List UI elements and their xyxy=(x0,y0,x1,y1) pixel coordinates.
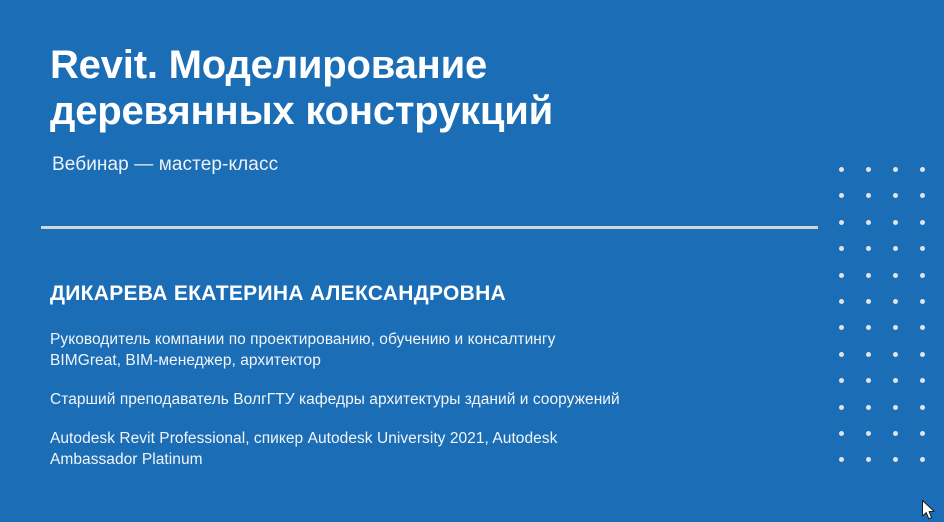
grid-dot xyxy=(839,299,844,304)
grid-dot xyxy=(839,167,844,172)
grid-dot xyxy=(920,246,925,251)
page-title: Revit. Моделирование деревянных конструк… xyxy=(50,42,790,134)
grid-dot xyxy=(893,378,898,383)
grid-dot xyxy=(920,378,925,383)
speaker-name: ДИКАРЕВА ЕКАТЕРИНА АЛЕКСАНДРОВНА xyxy=(50,281,810,307)
grid-dot xyxy=(920,273,925,278)
grid-dot xyxy=(893,457,898,462)
grid-dot xyxy=(839,352,844,357)
grid-dot xyxy=(893,299,898,304)
grid-dot xyxy=(866,246,871,251)
grid-dot xyxy=(920,352,925,357)
speaker-block: ДИКАРЕВА ЕКАТЕРИНА АЛЕКСАНДРОВНА Руковод… xyxy=(50,281,810,470)
mouse-pointer-icon xyxy=(922,500,936,521)
grid-dot xyxy=(866,299,871,304)
grid-dot xyxy=(839,457,844,462)
grid-dot xyxy=(893,246,898,251)
grid-dot xyxy=(866,457,871,462)
grid-dot xyxy=(866,405,871,410)
grid-dot xyxy=(866,378,871,383)
dot-grid-decoration xyxy=(839,167,935,467)
horizontal-divider xyxy=(41,226,818,229)
grid-dot xyxy=(839,246,844,251)
speaker-credential-line: Руководитель компании по проектированию,… xyxy=(50,307,810,371)
grid-dot xyxy=(920,431,925,436)
grid-dot xyxy=(920,193,925,198)
grid-dot xyxy=(920,405,925,410)
grid-dot xyxy=(893,193,898,198)
grid-dot xyxy=(839,405,844,410)
grid-dot xyxy=(839,273,844,278)
grid-dot xyxy=(866,167,871,172)
grid-dot xyxy=(893,431,898,436)
grid-dot xyxy=(839,325,844,330)
grid-dot xyxy=(866,431,871,436)
grid-dot xyxy=(866,273,871,278)
grid-dot xyxy=(893,352,898,357)
grid-dot xyxy=(893,325,898,330)
grid-dot xyxy=(893,220,898,225)
grid-dot xyxy=(866,352,871,357)
grid-dot xyxy=(866,220,871,225)
title-block: Revit. Моделирование деревянных конструк… xyxy=(50,42,790,177)
grid-dot xyxy=(866,193,871,198)
grid-dot xyxy=(839,378,844,383)
grid-dot xyxy=(866,325,871,330)
speaker-credential-line: Autodesk Revit Professional, спикер Auto… xyxy=(50,410,810,470)
grid-dot xyxy=(893,273,898,278)
grid-dot xyxy=(920,220,925,225)
grid-dot xyxy=(920,299,925,304)
speaker-credential-line: Старший преподаватель ВолгГТУ кафедры ар… xyxy=(50,371,810,410)
grid-dot xyxy=(920,167,925,172)
grid-dot xyxy=(893,405,898,410)
grid-dot xyxy=(920,457,925,462)
grid-dot xyxy=(839,220,844,225)
grid-dot xyxy=(920,325,925,330)
slide-subtitle: Вебинар — мастер-класс xyxy=(50,134,790,177)
grid-dot xyxy=(839,193,844,198)
presentation-slide: Revit. Моделирование деревянных конструк… xyxy=(0,0,944,522)
grid-dot xyxy=(893,167,898,172)
grid-dot xyxy=(839,431,844,436)
